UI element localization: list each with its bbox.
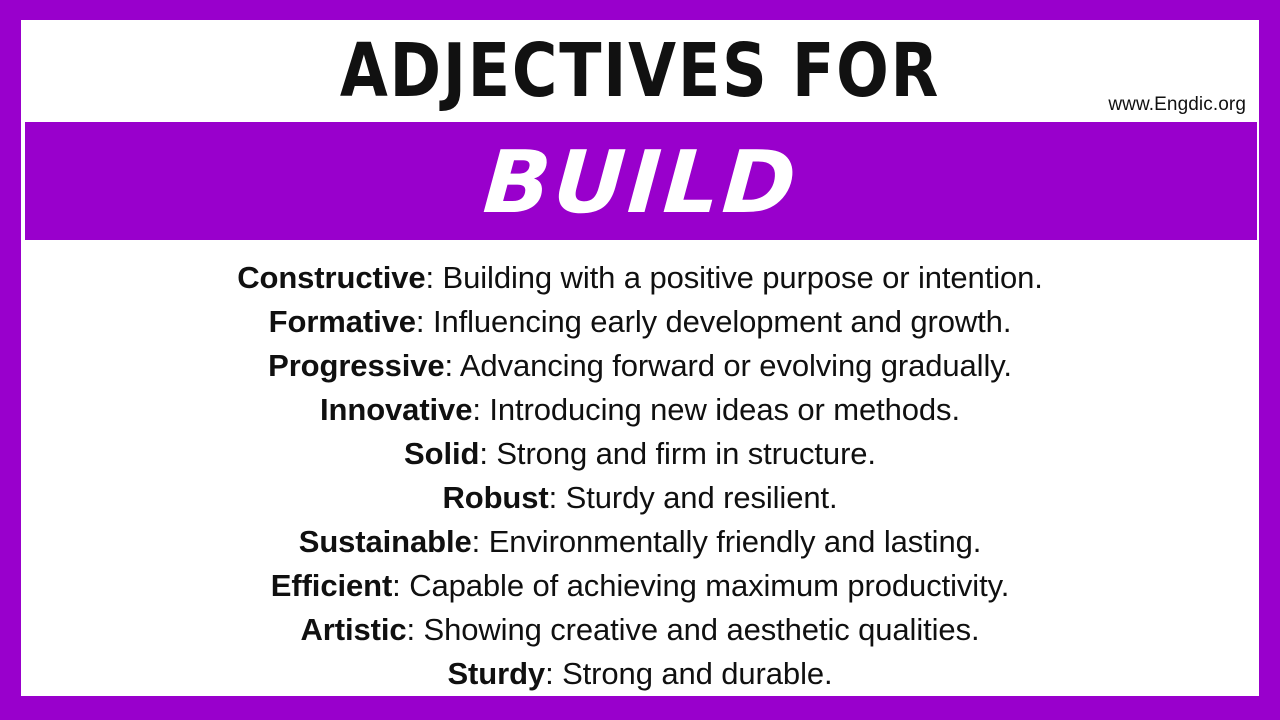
definition-word: Formative	[269, 304, 416, 339]
definition-separator: :	[407, 612, 424, 647]
definition-list: Constructive: Building with a positive p…	[21, 240, 1259, 696]
definition-meaning: Environmentally friendly and lasting.	[489, 524, 982, 559]
definition-meaning: Advancing forward or evolving gradually.	[460, 348, 1012, 383]
poster-card: ADJECTIVES FOR www.Engdic.org BUILD Cons…	[21, 20, 1259, 696]
definition-word: Solid	[404, 436, 479, 471]
definition-word: Robust	[442, 480, 548, 515]
definition-word: Progressive	[268, 348, 444, 383]
definition-separator: :	[545, 656, 562, 691]
poster-root: ADJECTIVES FOR www.Engdic.org BUILD Cons…	[0, 0, 1280, 720]
poster-header: ADJECTIVES FOR www.Engdic.org	[21, 20, 1259, 122]
definition-item: Formative: Influencing early development…	[21, 300, 1259, 344]
definition-meaning: Strong and firm in structure.	[496, 436, 876, 471]
definition-item: Robust: Sturdy and resilient.	[21, 476, 1259, 520]
definition-separator: :	[479, 436, 496, 471]
definition-separator: :	[392, 568, 409, 603]
definition-separator: :	[472, 392, 489, 427]
keyword-band-inner: BUILD	[25, 122, 1257, 240]
definition-word: Artistic	[300, 612, 406, 647]
definition-meaning: Building with a positive purpose or inte…	[443, 260, 1043, 295]
definition-separator: :	[445, 348, 460, 383]
definition-meaning: Influencing early development and growth…	[433, 304, 1011, 339]
site-url-label: www.Engdic.org	[1108, 94, 1246, 116]
definition-word: Innovative	[320, 392, 472, 427]
definition-word: Sustainable	[299, 524, 472, 559]
definition-item: Progressive: Advancing forward or evolvi…	[21, 344, 1259, 388]
definition-meaning: Sturdy and resilient.	[566, 480, 838, 515]
definition-word: Constructive	[237, 260, 425, 295]
definition-separator: :	[549, 480, 566, 515]
definition-item: Sustainable: Environmentally friendly an…	[21, 520, 1259, 564]
definition-item: Artistic: Showing creative and aesthetic…	[21, 608, 1259, 652]
definition-item: Efficient: Capable of achieving maximum …	[21, 564, 1259, 608]
definition-item: Solid: Strong and firm in structure.	[21, 432, 1259, 476]
definition-separator: :	[426, 260, 443, 295]
definition-item: Innovative: Introducing new ideas or met…	[21, 388, 1259, 432]
definition-word: Sturdy	[447, 656, 545, 691]
definition-meaning: Introducing new ideas or methods.	[489, 392, 960, 427]
page-title: ADJECTIVES FOR	[64, 20, 1215, 122]
definition-separator: :	[416, 304, 433, 339]
definition-separator: :	[472, 524, 489, 559]
keyword-text: BUILD	[481, 140, 802, 226]
definition-word: Efficient	[271, 568, 392, 603]
definition-meaning: Strong and durable.	[562, 656, 832, 691]
keyword-band: BUILD	[25, 122, 1257, 240]
definition-meaning: Capable of achieving maximum productivit…	[409, 568, 1009, 603]
definition-item: Sturdy: Strong and durable.	[21, 652, 1259, 696]
definition-item: Constructive: Building with a positive p…	[21, 256, 1259, 300]
definition-meaning: Showing creative and aesthetic qualities…	[424, 612, 980, 647]
